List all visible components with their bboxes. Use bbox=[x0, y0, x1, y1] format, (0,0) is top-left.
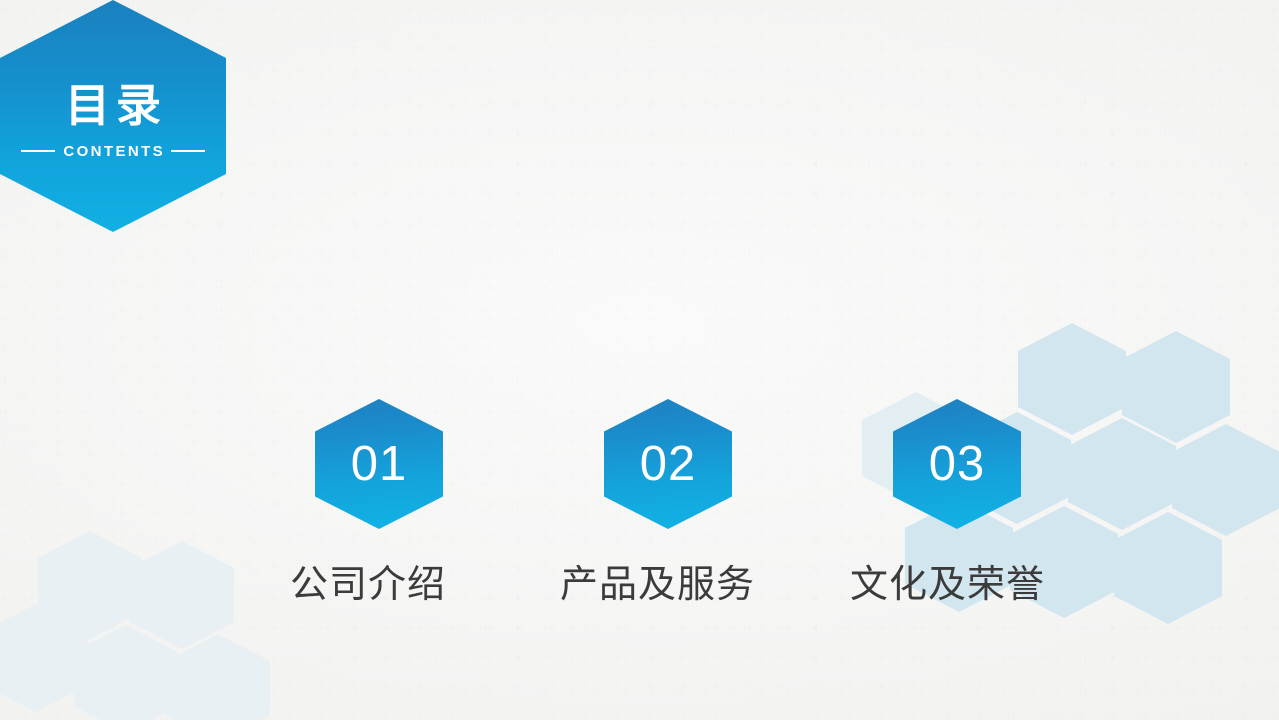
agenda-number-01: 01 bbox=[351, 440, 408, 489]
page-title: 目录 bbox=[59, 83, 167, 128]
agenda-item-hexagon-03[interactable]: 03 bbox=[893, 399, 1021, 529]
agenda-number-02: 02 bbox=[640, 440, 697, 489]
slide-content: 目录 CONTENTS 01 02 03 公司介绍 产品及服务 文化及荣誉 bbox=[0, 0, 1279, 720]
divider-line-right bbox=[171, 150, 205, 152]
contents-title-hexagon: 目录 CONTENTS bbox=[0, 0, 226, 232]
agenda-label-01[interactable]: 公司介绍 bbox=[290, 553, 446, 608]
agenda-item-hexagon-02[interactable]: 02 bbox=[604, 399, 732, 529]
divider-line-left bbox=[21, 150, 55, 152]
contents-title-group: 目录 CONTENTS bbox=[21, 83, 205, 160]
contents-slide: 目录 CONTENTS 01 02 03 公司介绍 产品及服务 文化及荣誉 bbox=[0, 0, 1279, 720]
agenda-label-03[interactable]: 文化及荣誉 bbox=[850, 553, 1045, 608]
agenda-item-hexagon-01[interactable]: 01 bbox=[315, 399, 443, 529]
agenda-label-02[interactable]: 产品及服务 bbox=[560, 553, 755, 608]
agenda-number-03: 03 bbox=[929, 440, 986, 489]
contents-subtitle-row: CONTENTS bbox=[21, 143, 205, 160]
contents-subtitle: CONTENTS bbox=[61, 143, 165, 160]
